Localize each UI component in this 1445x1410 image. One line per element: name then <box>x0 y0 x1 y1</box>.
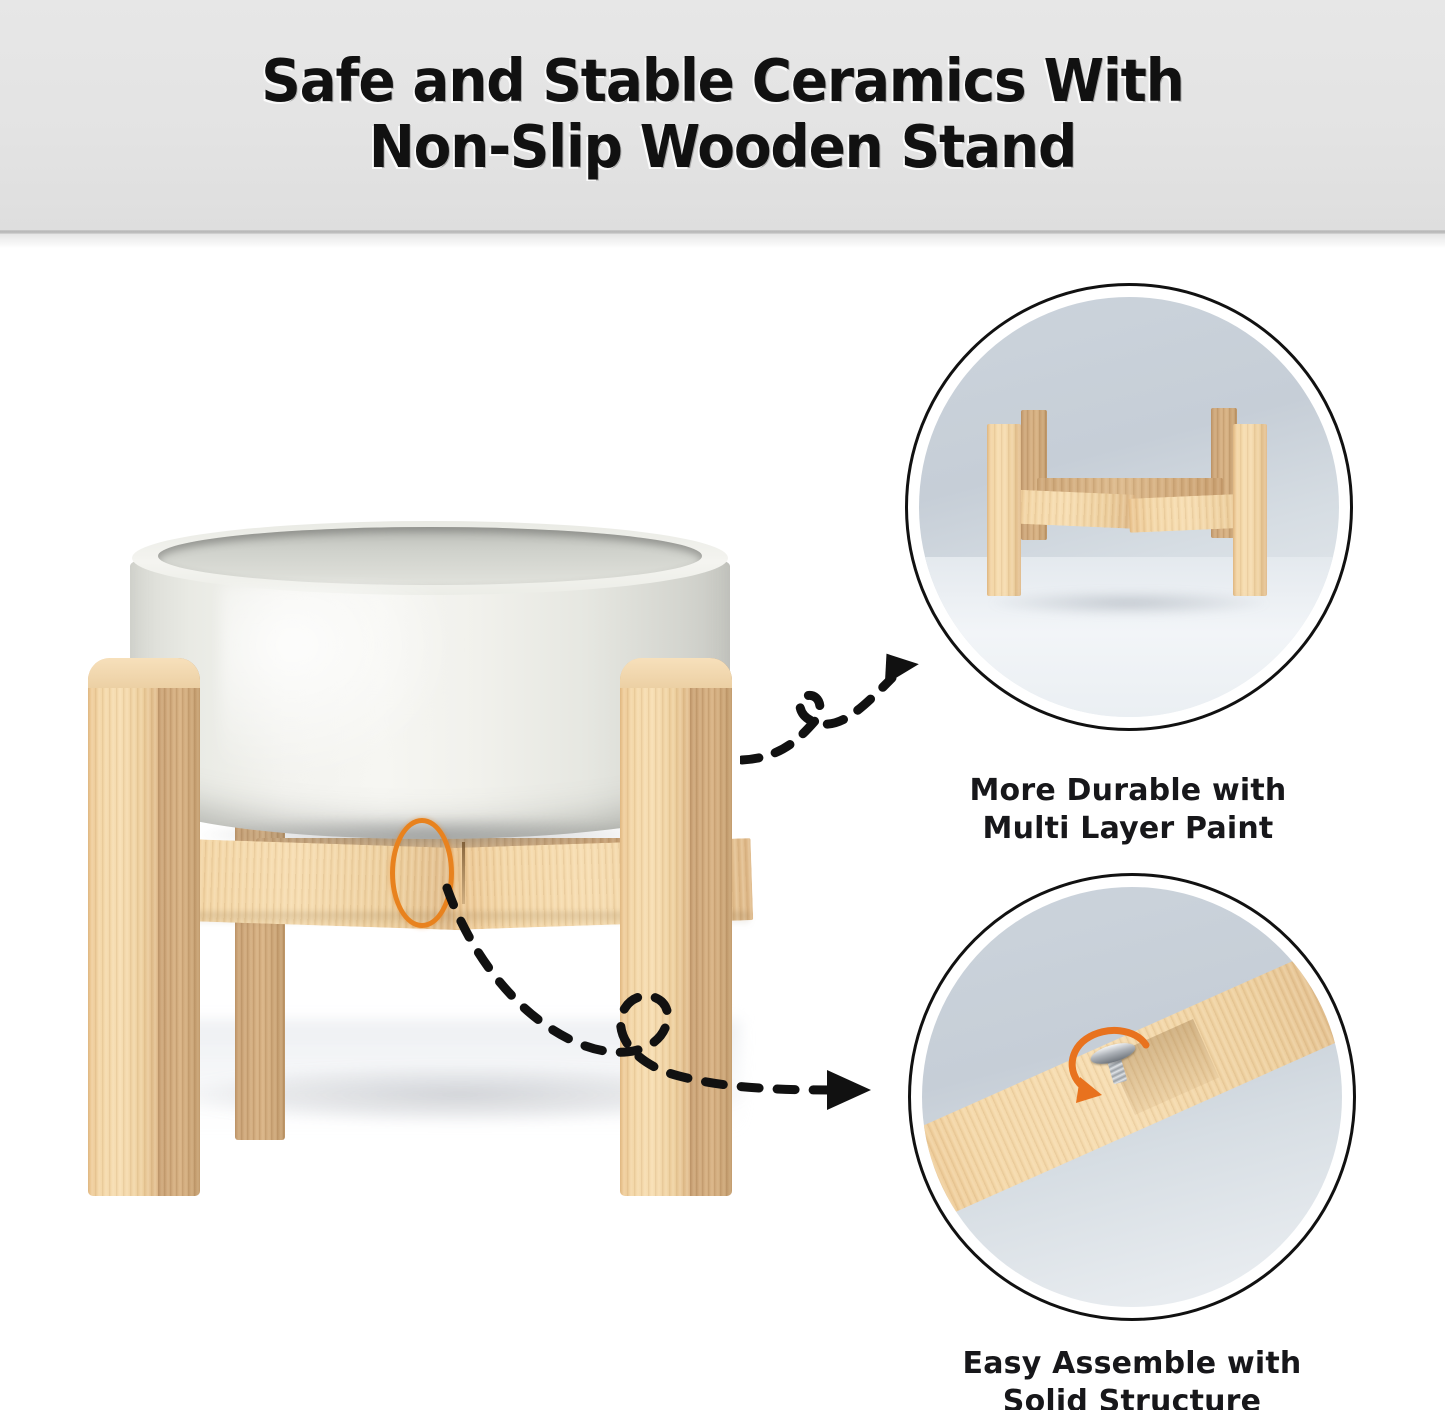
callout-durability-circle <box>905 283 1353 731</box>
screw-icon <box>1090 1035 1146 1091</box>
callout-assembly-caption: Easy Assemble with Solid Structure <box>902 1345 1362 1410</box>
bamboo-stand-figure <box>979 392 1279 622</box>
infographic-canvas: Safe and Stable Ceramics With Non-Slip W… <box>0 0 1445 1410</box>
bowl-interior <box>158 527 702 585</box>
stand-rail-seam <box>462 842 465 904</box>
bowl-highlight <box>220 585 460 785</box>
leg-face <box>88 658 158 1196</box>
leg-top-cap <box>88 658 200 688</box>
callout-durability-caption: More Durable with Multi Layer Paint <box>898 772 1358 848</box>
leg-edge <box>158 658 200 1196</box>
mini-leg-front-right <box>1233 424 1267 596</box>
callout-assembly-photo <box>922 887 1342 1307</box>
leg-edge <box>690 658 732 1196</box>
header-band: Safe and Stable Ceramics With Non-Slip W… <box>0 0 1445 232</box>
leg-top-cap <box>620 658 732 688</box>
page-title: Safe and Stable Ceramics With Non-Slip W… <box>51 48 1395 180</box>
hero-product-image <box>60 420 850 1250</box>
leg-face <box>620 658 690 1196</box>
mini-rail-left <box>1006 489 1135 529</box>
mini-stand-shadow <box>989 590 1269 616</box>
stand-front-leg-right <box>620 658 732 1196</box>
stand-front-leg-left <box>88 658 200 1196</box>
header-divider-shadow <box>0 234 1445 248</box>
joint-highlight-oval <box>390 818 454 928</box>
callout-assembly-circle <box>908 873 1356 1321</box>
mini-leg-front-left <box>987 424 1021 596</box>
callout-durability-photo <box>919 297 1339 717</box>
